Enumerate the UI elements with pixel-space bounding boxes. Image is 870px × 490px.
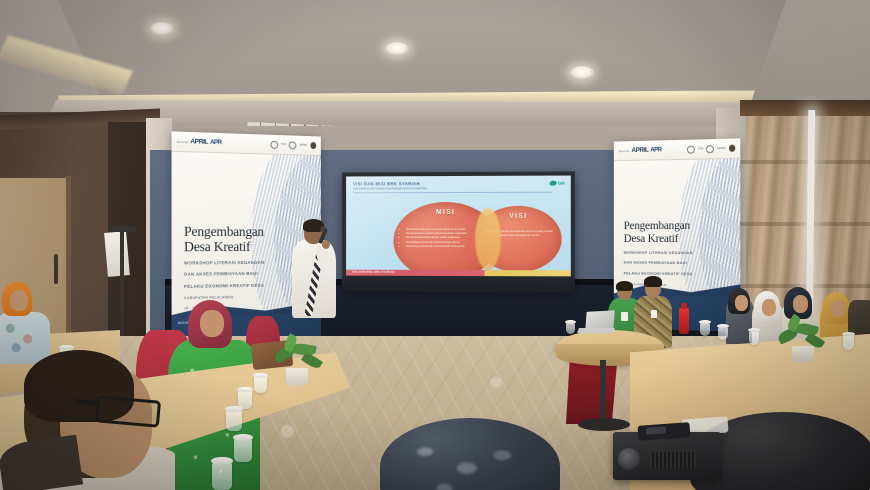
glass-lid — [225, 406, 243, 412]
plant-pot — [286, 368, 308, 386]
left-attendee-orange-face — [10, 290, 28, 311]
partner-seal-icon — [729, 145, 736, 152]
partner-logo-icon — [687, 145, 695, 153]
easel-stand — [120, 230, 124, 342]
slide-divider — [353, 192, 553, 193]
laptop-keyboard[interactable] — [577, 328, 615, 333]
easel-paper — [104, 231, 130, 277]
banner-subtitle-2: DAN AKSES PEMBIAYAAN BAGI — [624, 261, 733, 268]
banner-logo-strip: Beranda APRIL APR TISA EKRAF — [172, 131, 321, 156]
round-table-leg — [600, 360, 606, 422]
right-attendee-face — [793, 295, 808, 313]
banner-text-block: Pengembangan Desa Kreatif WORKSHOP LITER… — [624, 220, 733, 299]
brk-logo-text: brk — [558, 181, 565, 186]
banner-logo-apr: APR — [650, 147, 661, 153]
drinking-glass — [212, 462, 232, 490]
speaker-hand — [322, 240, 330, 249]
brk-syariah-logo: brk — [549, 181, 564, 186]
partner-logo-tisa: TISA — [281, 143, 286, 146]
glass-lid — [717, 324, 729, 328]
partner-logo-icon — [270, 140, 278, 148]
screen-bottom-frame — [342, 276, 575, 293]
bottle-cap — [681, 303, 687, 309]
banner-heading-line1: Pengembangan — [624, 220, 733, 233]
banner-heading-line2: Desa Kreatif — [624, 233, 733, 246]
banner-logo-prefix: Beranda — [177, 139, 189, 143]
projector-vent — [650, 452, 696, 468]
glass-lid — [211, 457, 233, 465]
curtain-fold — [740, 222, 870, 226]
drinking-glass — [718, 326, 728, 340]
slide-header-subtitle: Arah kebijakan dan strategi pengembangan… — [353, 187, 427, 190]
slide-surface: VISI DAN MISI BRK SYARIAH Arah kebijakan… — [346, 176, 571, 277]
downlight-icon — [570, 66, 594, 79]
curtain-fold — [740, 160, 870, 164]
banner-logo-apr: APR — [210, 139, 221, 145]
venn-overlap-region — [475, 208, 501, 270]
door-handle — [54, 254, 58, 284]
panelist-batik-hair — [644, 276, 662, 287]
drinking-glass — [254, 376, 267, 393]
drinking-glass — [749, 330, 759, 345]
drinking-glass — [226, 410, 242, 431]
banner-logo-april: APRIL — [190, 138, 208, 146]
visi-label: VISI — [509, 213, 527, 220]
banner-subtitle-1: WORKSHOP LITERASI KEUANGAN — [624, 250, 733, 256]
glass-lid — [237, 387, 253, 392]
partner-logo-ekraf: EKRAF — [717, 147, 725, 150]
glass-lid — [748, 328, 760, 332]
downlight-icon — [385, 42, 409, 55]
curtain-fold — [740, 284, 870, 288]
panelist-green-hair — [616, 281, 633, 291]
glass-lid — [233, 434, 253, 441]
misi-label: MISI — [436, 209, 455, 216]
banner-subtitle-3: PELAKU EKONOMI KREATIF DESA — [624, 272, 733, 279]
downlight-icon — [150, 22, 174, 35]
glass-lid — [699, 320, 711, 324]
remote-buttons[interactable] — [646, 426, 666, 434]
ceiling-recess — [58, 0, 818, 104]
partner-logo-tisa: TISA — [698, 147, 703, 150]
slide-header-title: VISI DAN MISI BRK SYARIAH — [353, 181, 420, 186]
partner-logo-icon — [706, 145, 714, 153]
brk-mark-icon — [549, 181, 557, 186]
glass-lid — [565, 320, 576, 324]
microphone-head-icon — [320, 226, 326, 232]
eyeglasses-icon — [95, 395, 161, 427]
banner-heading-line1: Pengembangan — [184, 224, 312, 240]
panelist-name-badge — [621, 312, 628, 321]
panelist-name-badge — [651, 310, 657, 318]
red-water-bottle — [679, 308, 689, 334]
right-attendee-face — [735, 295, 748, 311]
round-table-base — [578, 418, 630, 431]
drinking-glass — [234, 438, 252, 462]
left-attendee-maroon-face — [200, 310, 224, 337]
banner-logo-strip: Beranda APRIL APR TISA EKRAF — [614, 138, 740, 161]
partner-seal-icon — [310, 142, 316, 149]
glass-lid — [842, 332, 855, 336]
glass-lid — [253, 373, 268, 378]
partner-logo-ekraf: EKRAF — [299, 144, 307, 147]
drinking-glass — [843, 334, 854, 350]
slide-footer-text: VISI DAN MISI BRK SYARIAH — [352, 270, 395, 273]
projection-screen: VISI DAN MISI BRK SYARIAH Arah kebijakan… — [342, 171, 575, 292]
partner-logo-icon — [289, 141, 297, 149]
left-attendee-floral-pattern — [0, 316, 46, 360]
drinking-glass — [700, 322, 710, 336]
right-attendee-face — [762, 299, 776, 316]
right-attendee-face — [831, 300, 845, 317]
banner-logo-prefix: Beranda — [619, 149, 630, 153]
projector-lens-icon — [618, 448, 640, 470]
banner-logo-april: APRIL — [631, 147, 648, 154]
curtain-rail — [740, 100, 870, 116]
plant-pot — [792, 346, 814, 362]
door-edge — [66, 176, 71, 344]
seminar-room-photo: Beranda APRIL APR TISA EKRAF Pengembanga… — [0, 0, 870, 490]
